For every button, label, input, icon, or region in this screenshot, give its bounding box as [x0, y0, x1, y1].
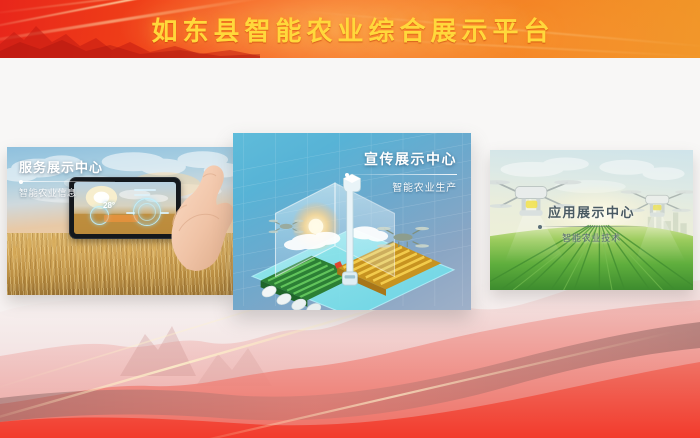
panel-application-subtitle: 智能农业技术: [490, 231, 693, 244]
panel-promotion-subtitle: 智能农业生产: [345, 179, 457, 194]
hud-panel: [104, 215, 138, 222]
divider-dot-icon: [19, 180, 23, 184]
divider-dot-icon: [538, 225, 542, 229]
panel-promotion-title: 宣传展示中心: [345, 149, 457, 169]
panel-service-divider: [19, 181, 115, 182]
hud-bar: [134, 194, 150, 196]
panel-service-title: 服务展示中心: [19, 157, 115, 176]
hud-bar: [160, 212, 169, 214]
panel-service-inner: 28°: [7, 147, 235, 295]
divider-dot-icon: [345, 173, 349, 177]
wheat-field: [7, 233, 235, 295]
panel-application[interactable]: 应用展示中心 智能农业技术: [490, 150, 693, 290]
panel-application-text: 应用展示中心 智能农业技术: [490, 202, 693, 244]
temperature-readout: 28°: [103, 201, 115, 210]
panel-promotion-divider: [345, 174, 457, 175]
panel-application-divider: [538, 226, 646, 227]
hud-ring-icon: [133, 198, 161, 226]
wheat-stalks-icon: [7, 233, 235, 295]
hud-ring-icon: [138, 203, 156, 221]
header-banner: 如东县智能农业综合展示平台: [0, 0, 700, 58]
panel-promotion-inner: 宣传展示中心 智能农业生产: [233, 133, 471, 310]
panel-promotion-text: 宣传展示中心 智能农业生产: [345, 149, 457, 194]
panel-application-title: 应用展示中心: [490, 202, 693, 221]
hud-bar: [126, 212, 135, 214]
page-title: 如东县智能农业综合展示平台: [0, 0, 700, 58]
hand-icon: [157, 161, 235, 271]
panel-service-text: 服务展示中心 智能农业信息: [19, 157, 115, 199]
drone-icon: [377, 227, 429, 248]
drone-icon: [269, 220, 304, 233]
panel-application-inner: 应用展示中心 智能农业技术: [490, 150, 693, 290]
wheat-texture: [7, 233, 235, 295]
app-stage: 如东县智能农业综合展示平台: [0, 0, 700, 438]
panel-service[interactable]: 28°: [7, 147, 235, 295]
panel-service-subtitle: 智能农业信息: [19, 186, 115, 199]
panel-promotion[interactable]: 宣传展示中心 智能农业生产: [233, 133, 471, 310]
hud-ring-icon: [90, 206, 109, 225]
hud-bar: [134, 189, 156, 191]
